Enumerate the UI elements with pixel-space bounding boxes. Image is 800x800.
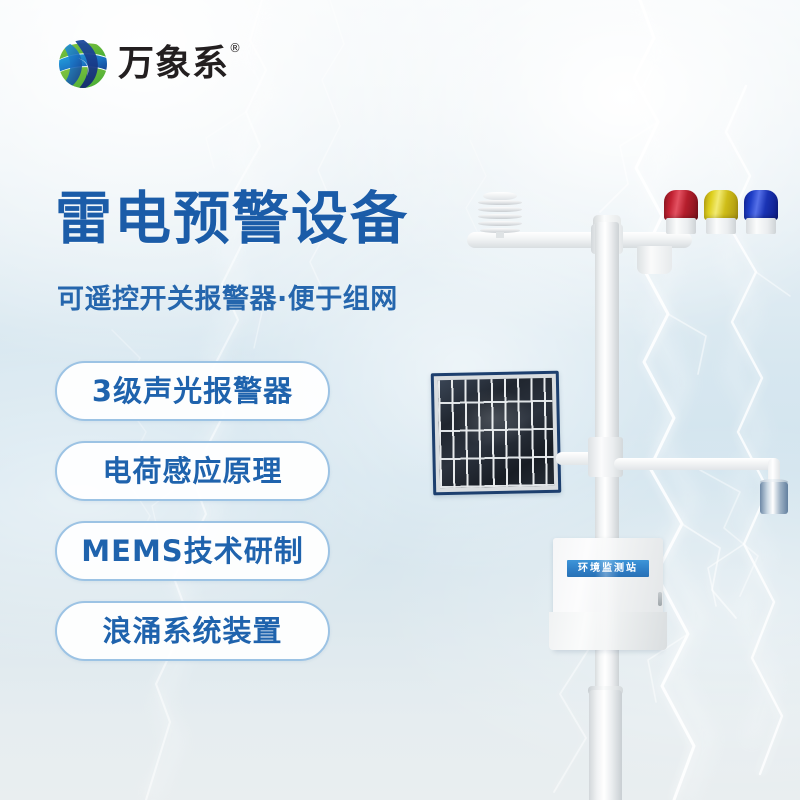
- control-box-latch: [658, 592, 662, 606]
- feature-pill-2[interactable]: 电荷感应原理: [55, 441, 330, 501]
- feature-pill-1[interactable]: 3级声光报警器: [55, 361, 330, 421]
- registered-trademark-mark: ®: [229, 42, 242, 54]
- page-title: 雷电预警设备: [55, 190, 409, 250]
- page-subtitle: 可遥控开关报警器·便于组网: [57, 285, 398, 315]
- feature-pill-3-label: MEMS技术研制: [81, 537, 303, 566]
- mast-pole-base: [589, 690, 622, 800]
- feature-list: 3级声光报警器 电荷感应原理 MEMS技术研制 浪涌系统装置: [55, 361, 330, 681]
- mast-pole-front-segment: [595, 538, 619, 703]
- beacon-red-icon: [664, 190, 698, 235]
- radiation-shield-sensor-icon: [478, 196, 522, 236]
- solar-panel: [431, 371, 562, 496]
- beacon-blue-icon: [744, 190, 778, 235]
- brand-name-text: 万象系: [118, 43, 229, 84]
- feature-pill-4[interactable]: 浪涌系统装置: [55, 601, 330, 661]
- feature-pill-4-label: 浪涌系统装置: [102, 617, 282, 646]
- poster-canvas: 环境监测站: [0, 0, 800, 800]
- cylindrical-sensor: [760, 482, 788, 514]
- beacon-arm-hub: [637, 246, 672, 274]
- beacon-yellow-icon: [704, 190, 738, 235]
- globe-swirl-logo-icon: [57, 38, 109, 90]
- feature-pill-3[interactable]: MEMS技术研制: [55, 521, 330, 581]
- brand-logo[interactable]: 万象系®: [57, 38, 229, 90]
- feature-pill-1-label: 3级声光报警器: [92, 377, 293, 406]
- brand-name: 万象系®: [118, 46, 229, 82]
- lower-sensor-arm-horizontal: [614, 458, 780, 470]
- solar-panel-bracket: [588, 437, 623, 477]
- feature-pill-2-label: 电荷感应原理: [102, 457, 282, 486]
